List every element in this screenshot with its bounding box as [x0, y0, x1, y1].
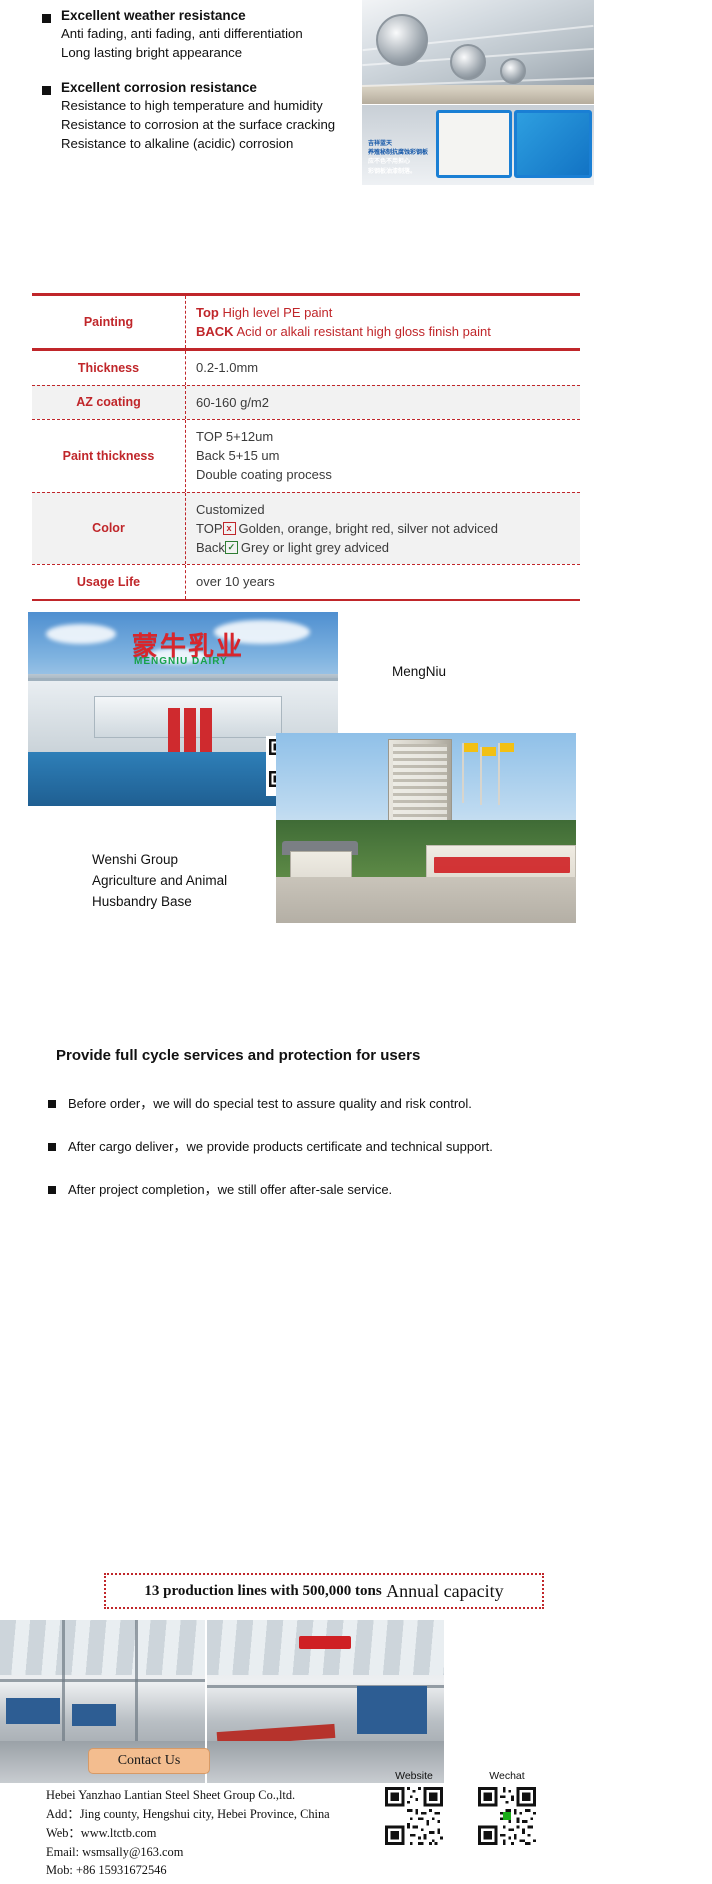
- driveway: [276, 877, 576, 923]
- value-line: Back✓Grey or light grey adviced: [196, 538, 580, 557]
- table-row: Color Customized TOPxGolden, orange, bri…: [32, 492, 580, 565]
- list-item: After cargo deliver，we provide products …: [48, 1138, 608, 1156]
- value-line: Double coating process: [196, 465, 580, 484]
- feature-group: Excellent weather resistance Anti fading…: [42, 8, 362, 62]
- ventilation-fan-icon: [376, 14, 428, 66]
- value-text: Acid or alkali resistant high gloss fini…: [236, 324, 490, 339]
- caption-line: 吉祥蓝天: [368, 140, 430, 149]
- feature-line: Resistance to corrosion at the surface c…: [61, 116, 362, 135]
- bullet-square-icon: [48, 1100, 56, 1108]
- services-title: Provide full cycle services and protecti…: [56, 1047, 420, 1064]
- qr-code-svg: [478, 1787, 536, 1845]
- row-label: Paint thickness: [32, 420, 186, 492]
- capacity-text-secondary: Annual capacity: [386, 1581, 503, 1602]
- capacity-banner: 13 production lines with 500,000 tons An…: [104, 1573, 544, 1609]
- feature-heading: Excellent corrosion resistance: [42, 80, 362, 97]
- caption-line: Wenshi Group: [92, 850, 227, 871]
- caption-line: 彩钢板油漆制落。: [368, 168, 430, 177]
- value-line: BACK Acid or alkali resistant high gloss…: [196, 322, 580, 341]
- check-box-icon: ✓: [225, 541, 238, 554]
- value-text: High level PE paint: [222, 305, 332, 320]
- capacity-text-primary: 13 production lines with 500,000 tons: [144, 1583, 381, 1600]
- brochure-page: Excellent weather resistance Anti fading…: [0, 0, 712, 1884]
- safety-sign: [299, 1636, 351, 1649]
- company-email[interactable]: Email: wsmsally@163.com: [46, 1843, 330, 1862]
- feature-title: Excellent corrosion resistance: [61, 80, 257, 97]
- caption-mengniu: MengNiu: [392, 662, 446, 683]
- value-line: Back 5+15 um: [196, 446, 580, 465]
- feature-line: Anti fading, anti fading, anti different…: [61, 25, 362, 44]
- value-prefix: TOP: [196, 521, 223, 536]
- service-text: Before order，we will do special test to …: [68, 1095, 472, 1113]
- wenshi-group-photo: [276, 733, 576, 923]
- flag-pole: [498, 743, 500, 805]
- blue-machine: [357, 1686, 427, 1734]
- value-prefix: Back: [196, 540, 225, 555]
- mengniu-logo-sub: MENGNIU DAIRY: [134, 656, 228, 667]
- bullet-square-icon: [42, 86, 51, 95]
- value-line: 0.2-1.0mm: [196, 358, 580, 377]
- factory-photo-right: [207, 1620, 444, 1783]
- row-value: over 10 years: [186, 565, 580, 598]
- caption-line: Agriculture and Animal: [92, 871, 227, 892]
- caption-line: 应不色不用担心: [368, 158, 430, 167]
- service-text: After project completion，we still offer …: [68, 1181, 392, 1199]
- value-text: Golden, orange, bright red, silver not a…: [239, 521, 498, 536]
- value-bold: Top: [196, 305, 219, 320]
- feature-line: Resistance to high temperature and humid…: [61, 97, 362, 116]
- value-line: 60-160 g/m2: [196, 393, 580, 412]
- row-label: Usage Life: [32, 565, 186, 598]
- row-value: Top High level PE paint BACK Acid or alk…: [186, 296, 580, 348]
- qr-wechat-block: Wechat: [478, 1770, 536, 1845]
- service-text: After cargo deliver，we provide products …: [68, 1138, 493, 1156]
- qr-wechat-label: Wechat: [478, 1770, 536, 1782]
- chinese-caption: 吉祥蓝天 养殖秘制抗腐蚀彩钢板 应不色不用担心 彩钢板油漆制落。: [368, 140, 430, 177]
- row-value: 60-160 g/m2: [186, 386, 580, 419]
- red-banner: [200, 708, 212, 754]
- steel-beam: [0, 1679, 205, 1682]
- row-label: Color: [32, 493, 186, 565]
- feature-heading: Excellent weather resistance: [42, 8, 362, 25]
- row-value: 0.2-1.0mm: [186, 351, 580, 384]
- table-row: Usage Life over 10 years: [32, 564, 580, 598]
- table-row: Paint thickness TOP 5+12um Back 5+15 um …: [32, 419, 580, 492]
- feature-line: Resistance to alkaline (acidic) corrosio…: [61, 135, 362, 154]
- row-label: Thickness: [32, 351, 186, 384]
- value-line: TOPxGolden, orange, bright red, silver n…: [196, 519, 580, 538]
- company-name: Hebei Yanzhao Lantian Steel Sheet Group …: [46, 1786, 330, 1805]
- value-text: Grey or light grey adviced: [241, 540, 389, 555]
- company-mobile: Mob: +86 15931672546: [46, 1861, 330, 1880]
- factory-roof: [0, 1620, 205, 1675]
- blue-panel-swatch: [514, 110, 592, 178]
- blue-machine: [6, 1698, 60, 1724]
- cloud: [46, 624, 116, 644]
- row-label: AZ coating: [32, 386, 186, 419]
- ventilation-fan-icon: [450, 44, 486, 80]
- qr-code-svg: [385, 1787, 443, 1845]
- white-panel-swatch: [436, 110, 512, 178]
- bullet-square-icon: [42, 14, 51, 23]
- feature-line: Long lasting bright appearance: [61, 44, 362, 63]
- services-list: Before order，we will do special test to …: [48, 1095, 608, 1225]
- caption-line: 养殖秘制抗腐蚀彩钢板: [368, 149, 430, 158]
- contact-details: Hebei Yanzhao Lantian Steel Sheet Group …: [46, 1786, 330, 1880]
- qr-website-block: Website: [385, 1770, 443, 1845]
- company-website[interactable]: Web：www.ltctb.com: [46, 1824, 330, 1843]
- blue-machine: [72, 1704, 116, 1726]
- company-address: Add：Jing county, Hengshui city, Hebei Pr…: [46, 1805, 330, 1824]
- company-wall-sign: [434, 857, 570, 873]
- value-line: Top High level PE paint: [196, 303, 580, 322]
- table-row: Painting Top High level PE paint BACK Ac…: [32, 296, 580, 348]
- flag-pole: [480, 747, 482, 805]
- row-value: Customized TOPxGolden, orange, bright re…: [186, 493, 580, 565]
- caption-wenshi: Wenshi Group Agriculture and Animal Husb…: [92, 850, 227, 913]
- row-value: TOP 5+12um Back 5+15 um Double coating p…: [186, 420, 580, 492]
- specification-table: Painting Top High level PE paint BACK Ac…: [32, 293, 580, 601]
- qr-wechat-image[interactable]: [478, 1787, 536, 1845]
- qr-website-label: Website: [385, 1770, 443, 1782]
- red-banner: [168, 708, 180, 754]
- bullet-square-icon: [48, 1186, 56, 1194]
- table-row: AZ coating 60-160 g/m2: [32, 385, 580, 419]
- cross-box-icon: x: [223, 522, 236, 535]
- list-item: After project completion，we still offer …: [48, 1181, 608, 1199]
- table-row: Thickness 0.2-1.0mm: [32, 348, 580, 384]
- bullet-square-icon: [48, 1143, 56, 1151]
- value-line: over 10 years: [196, 572, 580, 591]
- feature-group: Excellent corrosion resistance Resistanc…: [42, 80, 362, 153]
- barn-photo: 吉祥蓝天 养殖秘制抗腐蚀彩钢板 应不色不用担心 彩钢板油漆制落。: [362, 0, 594, 185]
- features-block: Excellent weather resistance Anti fading…: [42, 8, 362, 171]
- red-banner: [184, 708, 196, 754]
- value-line: TOP 5+12um: [196, 427, 580, 446]
- value-line: Customized: [196, 500, 580, 519]
- contact-us-button[interactable]: Contact Us: [88, 1748, 210, 1774]
- row-label: Painting: [32, 296, 186, 348]
- caption-line: Husbandry Base: [92, 892, 227, 913]
- list-item: Before order，we will do special test to …: [48, 1095, 608, 1113]
- feature-title: Excellent weather resistance: [61, 8, 246, 25]
- qr-website-image[interactable]: [385, 1787, 443, 1845]
- flag-pole: [462, 743, 464, 803]
- ventilation-fan-icon: [500, 58, 526, 84]
- product-swatch-panel: 吉祥蓝天 养殖秘制抗腐蚀彩钢板 应不色不用担心 彩钢板油漆制落。: [362, 104, 594, 185]
- value-bold: BACK: [196, 324, 234, 339]
